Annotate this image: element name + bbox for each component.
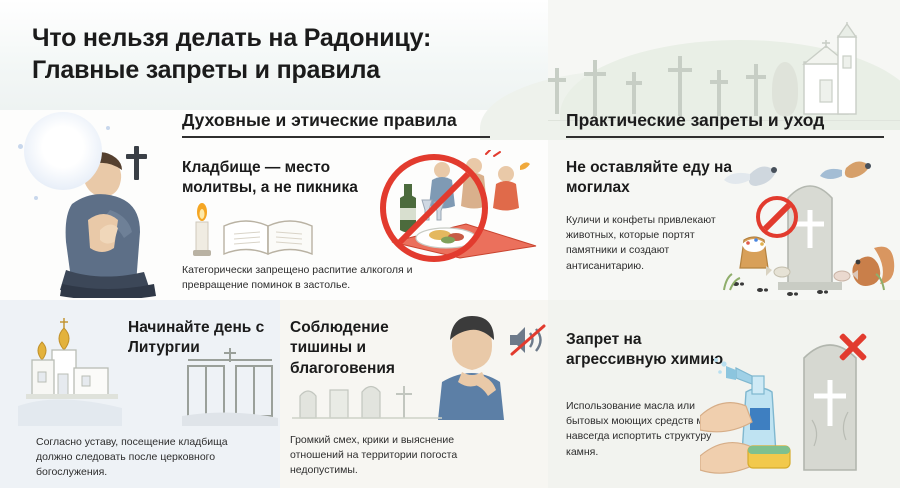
picnic-prohibited-illustration (370, 150, 546, 260)
title-line-2: Главные запреты и правила (32, 54, 552, 86)
shushing-person-illustration (432, 312, 510, 420)
right-heading-underline (566, 136, 884, 138)
background-church-icon (778, 22, 870, 118)
gravestones-row-illustration (292, 366, 442, 422)
cross-icon (126, 146, 147, 180)
praying-man-illustration (14, 108, 176, 298)
block-body: Громкий смех, крики и выяснение отношени… (290, 433, 500, 479)
halo-glow (24, 112, 102, 190)
cemetery-gate-illustration (182, 348, 278, 426)
sponge-icon (748, 446, 790, 468)
golden-dome-icon (59, 318, 69, 350)
bible-icon (224, 221, 312, 254)
left-heading-underline (182, 136, 490, 138)
sparkle-icon (106, 126, 110, 130)
block-cemetery-not-picnic: Кладбище — место молитвы, а не пикника К… (182, 158, 360, 199)
cross-icon (626, 72, 642, 114)
right-column-heading: Практические запреты и уход (566, 110, 824, 131)
easter-cake-icon (740, 237, 768, 268)
cross-icon (584, 60, 606, 116)
birds-icon (724, 161, 871, 186)
block-body: Категорически запрещено распитие алкогол… (182, 263, 432, 293)
squirrel-icon (852, 247, 894, 286)
block-body: Согласно уставу, посещение кладбища долж… (36, 435, 264, 481)
block-title: Кладбище — место молитвы, а не пикника (182, 158, 360, 199)
left-column-heading: Духовные и этические правила (182, 110, 457, 131)
cross-icon (746, 64, 766, 116)
sparkle-icon (34, 196, 38, 200)
prohibition-sign-icon (756, 196, 798, 238)
prohibition-sign-icon (380, 154, 488, 262)
block-body: Куличи и конфеты привлекают животных, ко… (566, 213, 716, 274)
muted-speaker-icon (506, 322, 548, 358)
candle-icon (193, 203, 211, 256)
page-title: Что нельзя делать на Радоницу: Главные з… (32, 22, 552, 86)
orthodox-church-illustration (18, 316, 128, 426)
red-x-icon (836, 330, 870, 364)
cross-icon (668, 56, 692, 116)
sparkle-icon (18, 144, 23, 149)
infographic-canvas: Что нельзя делать на Радоницу: Главные з… (0, 0, 900, 488)
title-line-1: Что нельзя делать на Радоницу: (32, 24, 431, 52)
candle-and-bible-illustration (182, 196, 332, 262)
grave-with-animals-illustration (716, 144, 900, 300)
